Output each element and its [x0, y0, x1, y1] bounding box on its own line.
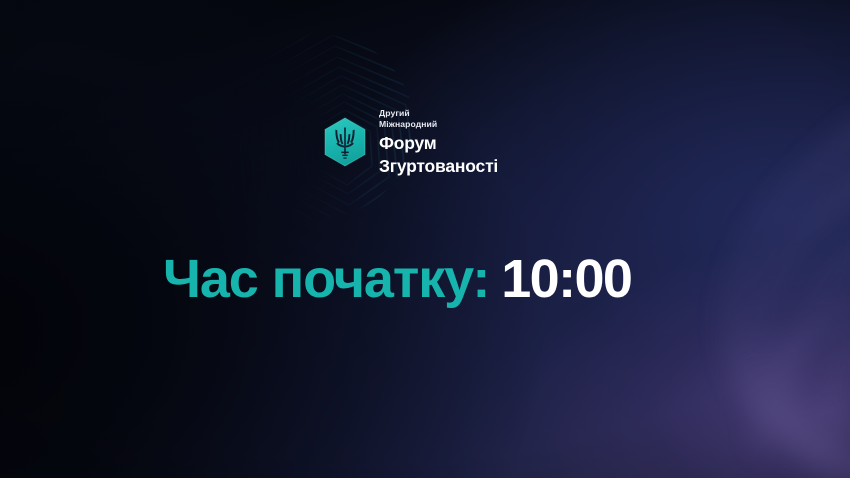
ukrainian-trident-hexagon-icon	[322, 117, 368, 167]
background-left-shadow	[0, 0, 850, 478]
background-navy-glow	[0, 0, 850, 478]
logo-kicker-line-2: Міжнародний	[379, 119, 498, 130]
background-vignette	[0, 0, 850, 478]
logo-ring-pattern	[0, 0, 850, 478]
start-time-label: Час початку:	[163, 249, 489, 309]
background-base-gradient	[0, 0, 850, 478]
logo-title-line-1: Форум	[379, 134, 498, 154]
start-time-headline: Час початку:10:00	[163, 252, 631, 306]
forum-logo: Другий Міжнародний Форум Згуртованості	[322, 108, 498, 177]
background-wave-pattern	[0, 0, 850, 478]
background-purple-glow	[0, 0, 850, 478]
logo-wordmark: Другий Міжнародний Форум Згуртованості	[379, 108, 498, 177]
slide-root: Другий Міжнародний Форум Згуртованості Ч…	[0, 0, 850, 478]
logo-kicker-line-1: Другий	[379, 108, 498, 119]
logo-title-line-2: Згуртованості	[379, 157, 498, 177]
start-time-value: 10:00	[501, 249, 631, 309]
